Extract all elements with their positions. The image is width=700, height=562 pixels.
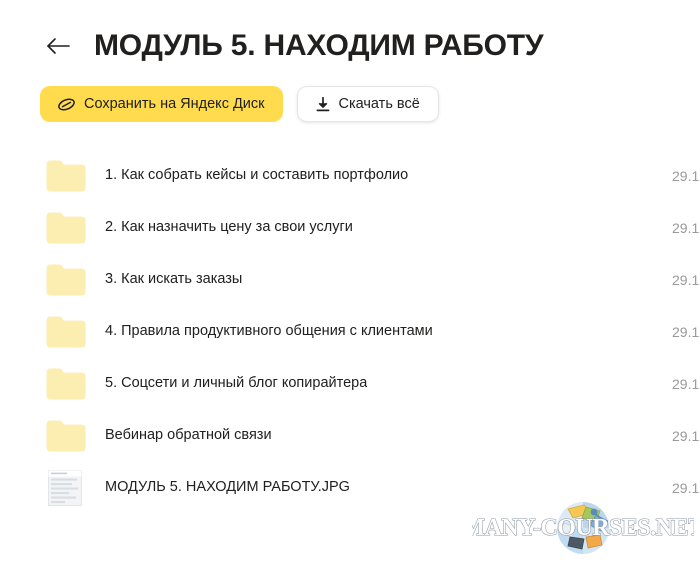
file-row[interactable]: 2. Как назначить цену за свои услуги 29.…	[0, 202, 700, 254]
file-date: 29.1	[672, 376, 699, 392]
page-title: МОДУЛЬ 5. НАХОДИМ РАБОТУ	[94, 31, 543, 61]
file-row[interactable]: Вебинар обратной связи 29.1	[0, 410, 700, 462]
file-name: 1. Как собрать кейсы и составить портфол…	[105, 167, 408, 184]
image-file-icon	[45, 471, 87, 505]
file-row[interactable]: 4. Правила продуктивного общения с клиен…	[0, 306, 700, 358]
file-name: 4. Правила продуктивного общения с клиен…	[105, 323, 433, 340]
download-icon	[316, 97, 330, 112]
save-to-yandex-disk-button[interactable]: Сохранить на Яндекс Диск	[40, 86, 283, 122]
file-list: 1. Как собрать кейсы и составить портфол…	[0, 150, 700, 514]
back-button[interactable]	[44, 32, 72, 60]
download-all-label: Скачать всё	[339, 96, 420, 112]
folder-icon	[45, 367, 87, 401]
file-row[interactable]: 1. Как собрать кейсы и составить портфол…	[0, 150, 700, 202]
file-name: 2. Как назначить цену за свои услуги	[105, 219, 353, 236]
folder-icon	[45, 315, 87, 349]
download-all-button[interactable]: Скачать всё	[297, 86, 439, 122]
file-name: МОДУЛЬ 5. НАХОДИМ РАБОТУ.JPG	[105, 479, 350, 496]
file-date: 29.1	[672, 272, 699, 288]
file-date: 29.1	[672, 480, 699, 496]
file-row[interactable]: 3. Как искать заказы 29.1	[0, 254, 700, 306]
file-name: 3. Как искать заказы	[105, 271, 242, 288]
file-row[interactable]: 5. Соцсети и личный блог копирайтера 29.…	[0, 358, 700, 410]
save-to-yandex-disk-label: Сохранить на Яндекс Диск	[84, 96, 265, 112]
folder-icon	[45, 159, 87, 193]
file-row[interactable]: МОДУЛЬ 5. НАХОДИМ РАБОТУ.JPG 29.1	[0, 462, 700, 514]
file-date: 29.1	[672, 220, 699, 236]
file-date: 29.1	[672, 428, 699, 444]
file-name: Вебинар обратной связи	[105, 427, 272, 444]
file-date: 29.1	[672, 168, 699, 184]
watermark-text: MANY-COURSES.NET	[472, 515, 694, 541]
folder-icon	[45, 211, 87, 245]
action-toolbar: Сохранить на Яндекс Диск Скачать всё	[0, 68, 700, 122]
file-name: 5. Соцсети и личный блог копирайтера	[105, 375, 367, 392]
file-date: 29.1	[672, 324, 699, 340]
folder-icon	[45, 419, 87, 453]
folder-icon	[45, 263, 87, 297]
yandex-disk-icon	[58, 98, 75, 111]
page-header: МОДУЛЬ 5. НАХОДИМ РАБОТУ	[0, 0, 700, 68]
